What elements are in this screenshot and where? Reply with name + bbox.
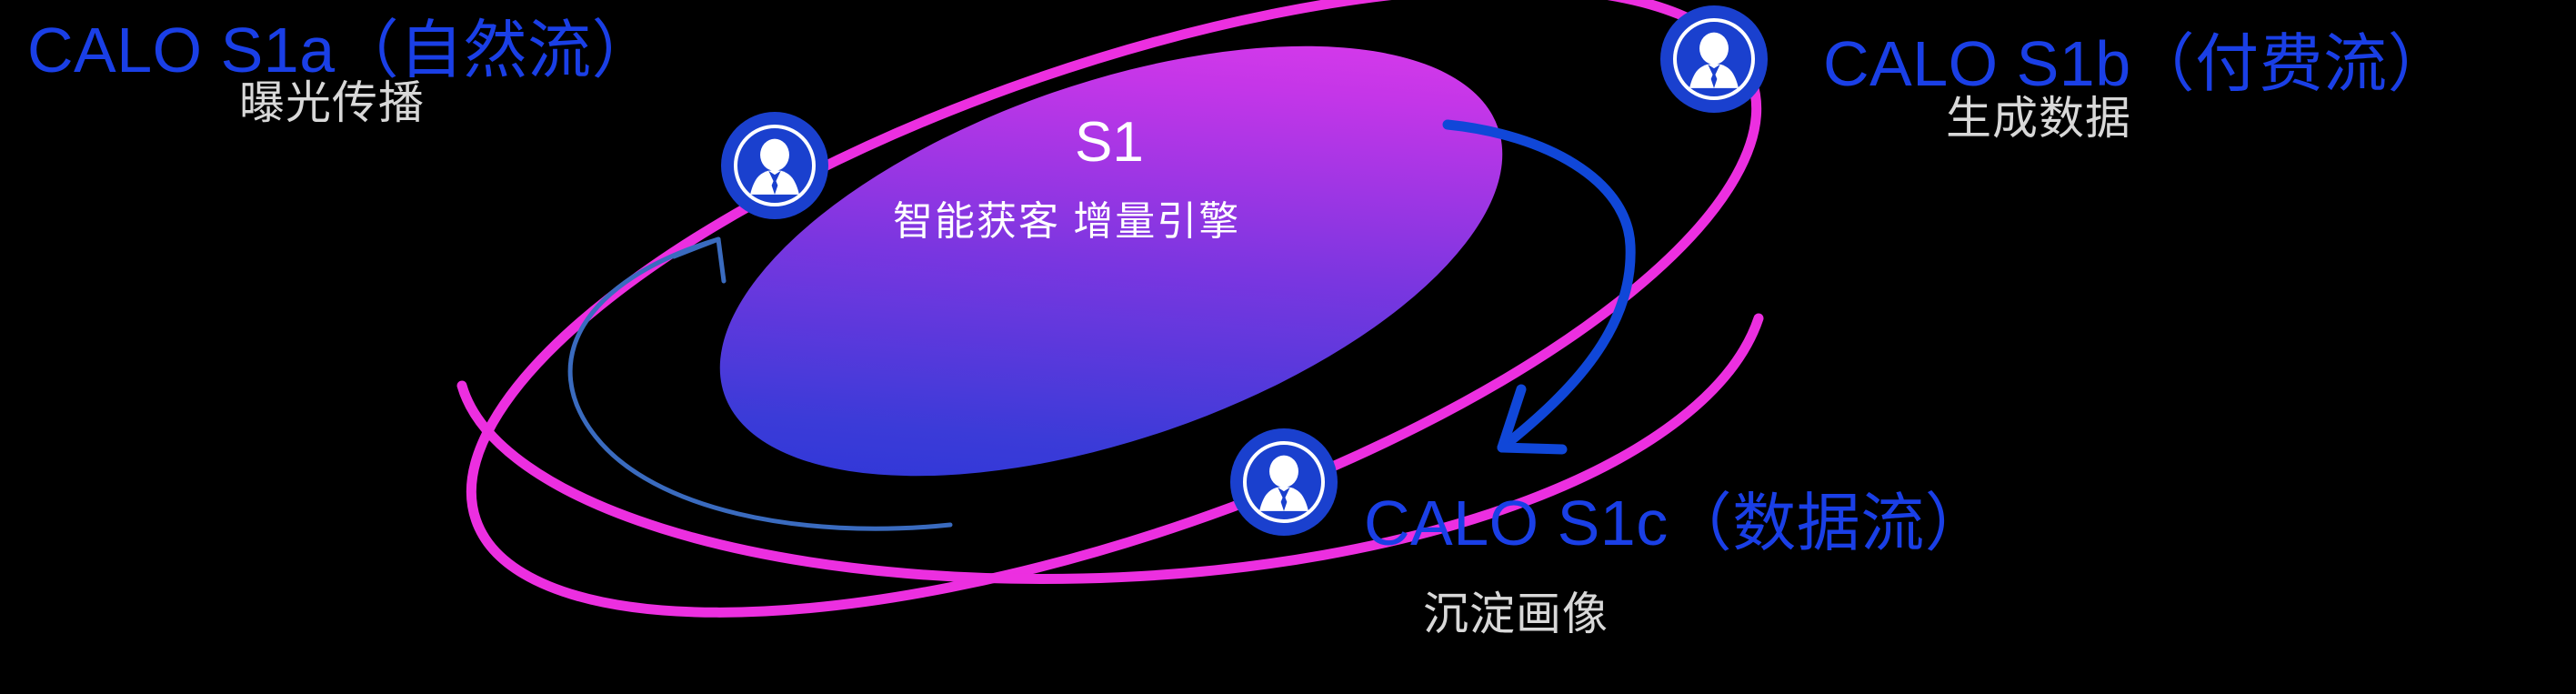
node-title-s1a: CALO S1a（自然流） bbox=[27, 18, 656, 82]
badge-s1b[interactable] bbox=[1660, 5, 1768, 113]
core-main-label: S1 bbox=[1075, 110, 1144, 175]
node-subtitle-s1a: 曝光传播 bbox=[239, 80, 425, 126]
badge-s1c[interactable] bbox=[1230, 428, 1338, 536]
core-sub-label: 智能获客 增量引擎 bbox=[893, 188, 1240, 246]
node-subtitle-s1b: 生成数据 bbox=[1946, 96, 2131, 141]
node-title-s1b: CALO S1b（付费流） bbox=[1823, 32, 2451, 96]
node-title-s1c: CALO S1c（数据流） bbox=[1364, 491, 1989, 555]
badge-s1a[interactable] bbox=[721, 112, 828, 219]
diagram-canvas: S1 智能获客 增量引擎 CALO S1a（自然流） 曝光传播 CALO S1b… bbox=[0, 0, 2576, 694]
node-subtitle-s1c: 沉淀画像 bbox=[1423, 591, 1609, 637]
